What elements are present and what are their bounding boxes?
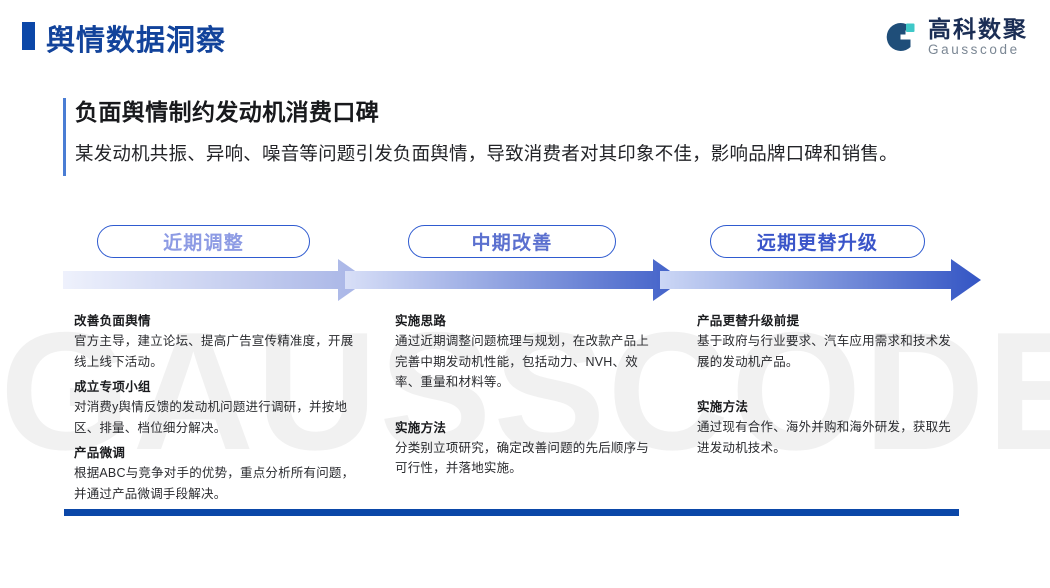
brand-logo: 高科数聚 Gausscode [881, 14, 1028, 60]
headline-block: 负面舆情制约发动机消费口碑 某发动机共振、异响、噪音等问题引发负面舆情，导致消费… [63, 96, 963, 178]
detail-section-title: 成立专项小组 [74, 378, 362, 396]
headline-text: 负面舆情制约发动机消费口碑 [75, 96, 963, 127]
detail-section-body: 通过近期调整问题梳理与规划，在改款产品上完善中期发动机性能，包括动力、NVH、效… [395, 331, 660, 393]
detail-section-title: 实施方法 [395, 419, 660, 437]
brand-name-en: Gausscode [928, 42, 1020, 57]
detail-section: 产品微调 根据ABC与竞争对手的优势，重点分析所有问题，并通过产品微调手段解决。 [74, 444, 362, 504]
headline-accent-rule [63, 98, 66, 176]
detail-section: 改善负面舆情 官方主导，建立论坛、提高广告宣传精准度，开展线上线下活动。 [74, 312, 362, 372]
phase-capsule-near-term[interactable]: 近期调整 [97, 225, 310, 258]
phase-capsule-long-term[interactable]: 远期更替升级 [710, 225, 925, 258]
three-segment-progress-arrow [63, 258, 983, 302]
detail-section-body: 分类别立项研究，确定改善问题的先后顺序与可行性，并落地实施。 [395, 438, 660, 479]
brand-logo-text: 高科数聚 Gausscode [928, 17, 1028, 57]
detail-section: 实施方法 通过现有合作、海外并购和海外研发，获取先进发动机技术。 [697, 398, 959, 458]
detail-section-body: 通过现有合作、海外并购和海外研发，获取先进发动机技术。 [697, 417, 959, 458]
footer-accent-bar [64, 509, 959, 516]
detail-section-body: 官方主导，建立论坛、提高广告宣传精准度，开展线上线下活动。 [74, 331, 362, 372]
detail-section: 成立专项小组 对消费y舆情反馈的发动机问题进行调研，并按地区、排量、档位细分解决… [74, 378, 362, 438]
page-header: 舆情数据洞察 高科数聚 Gausscode [0, 0, 1050, 72]
detail-section-title: 改善负面舆情 [74, 312, 362, 330]
phase-detail-columns: 改善负面舆情 官方主导，建立论坛、提高广告宣传精准度，开展线上线下活动。 成立专… [0, 312, 1050, 502]
detail-section-title: 实施思路 [395, 312, 660, 330]
detail-section-title: 产品更替升级前提 [697, 312, 959, 330]
gausscode-g-mark-icon [881, 18, 919, 56]
header-bullet-square [22, 22, 35, 50]
page-title: 舆情数据洞察 [46, 17, 226, 59]
detail-section: 实施方法 分类别立项研究，确定改善问题的先后顺序与可行性，并落地实施。 [395, 419, 660, 479]
phase-column-near-term: 改善负面舆情 官方主导，建立论坛、提高广告宣传精准度，开展线上线下活动。 成立专… [74, 312, 362, 504]
detail-section-body: 基于政府与行业要求、汽车应用需求和技术发展的发动机产品。 [697, 331, 959, 372]
subheadline-text: 某发动机共振、异响、噪音等问题引发负面舆情，导致消费者对其印象不佳，影响品牌口碑… [75, 141, 963, 167]
detail-section-title: 实施方法 [697, 398, 959, 416]
phase-column-mid-term: 实施思路 通过近期调整问题梳理与规划，在改款产品上完善中期发动机性能，包括动力、… [395, 312, 660, 479]
brand-name-cn: 高科数聚 [928, 17, 1028, 42]
detail-section-title: 产品微调 [74, 444, 362, 462]
detail-section: 产品更替升级前提 基于政府与行业要求、汽车应用需求和技术发展的发动机产品。 [697, 312, 959, 372]
detail-section: 实施思路 通过近期调整问题梳理与规划，在改款产品上完善中期发动机性能，包括动力、… [395, 312, 660, 393]
phase-capsule-mid-term[interactable]: 中期改善 [408, 225, 616, 258]
detail-section-body: 对消费y舆情反馈的发动机问题进行调研，并按地区、排量、档位细分解决。 [74, 397, 362, 438]
detail-section-body: 根据ABC与竞争对手的优势，重点分析所有问题，并通过产品微调手段解决。 [74, 463, 362, 504]
phase-column-long-term: 产品更替升级前提 基于政府与行业要求、汽车应用需求和技术发展的发动机产品。 实施… [697, 312, 959, 458]
